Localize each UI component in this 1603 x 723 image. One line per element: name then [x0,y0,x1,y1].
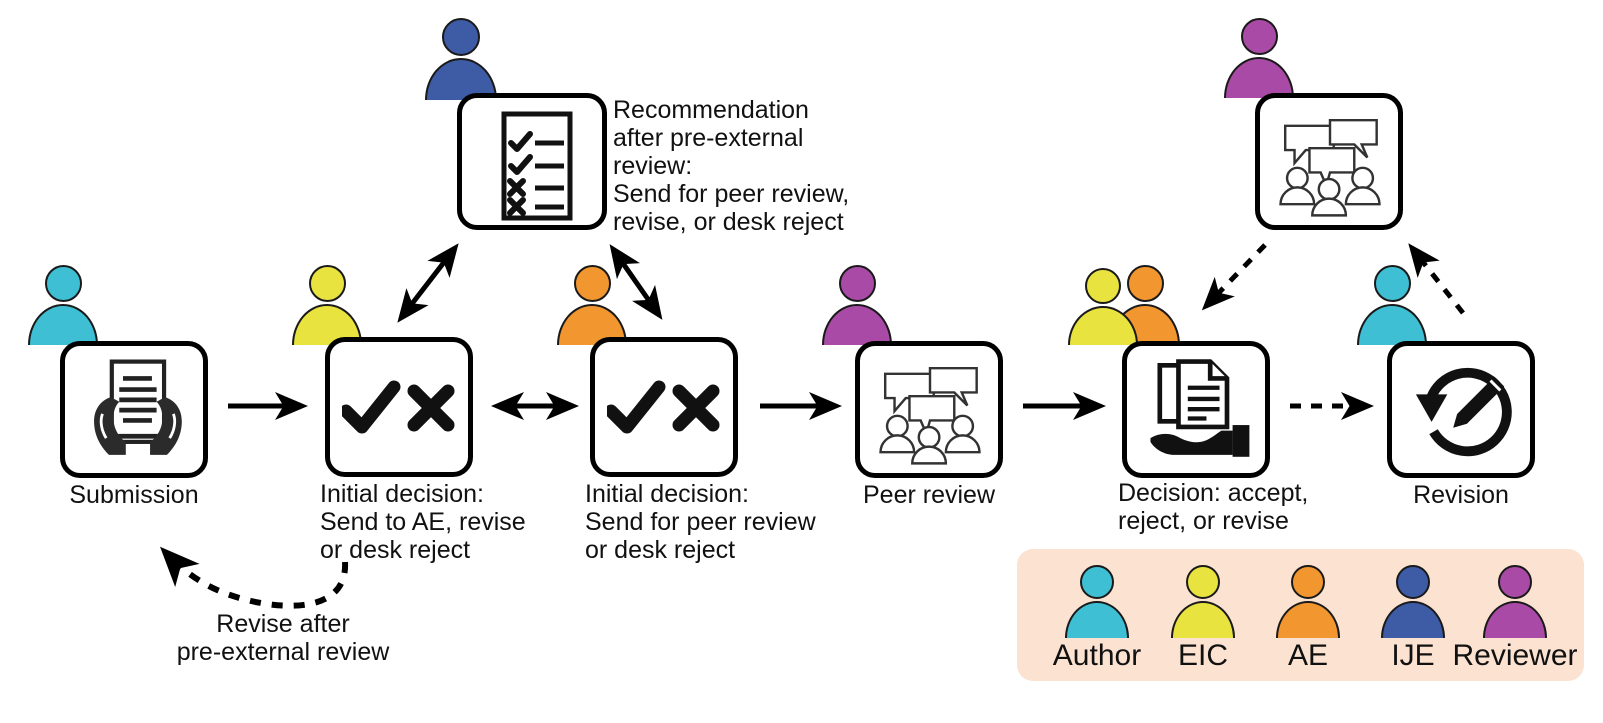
avatar-head-icon [1241,18,1278,55]
avatar-body-icon [28,304,98,345]
node-submission[interactable] [60,341,208,478]
checklist-icon [480,110,592,222]
avatar-head-icon [1085,268,1121,304]
node-initial-decision-eic[interactable] [325,337,473,477]
avatar-head-icon [309,265,346,302]
avatar-body-icon [1065,601,1129,638]
avatar-ae-initial-decision [557,265,627,345]
avatar-ae-legend [1276,565,1340,638]
legend-item-reviewer[interactable]: Reviewer [1450,565,1580,675]
revise-pencil-cycle-icon [1410,359,1518,467]
avatar-body-icon [1381,601,1445,638]
check-and-cross-icon [342,377,458,441]
node-initial-decision-ae[interactable] [590,337,738,477]
avatar-author-revision [1357,265,1427,345]
avatar-head-icon [1374,265,1411,302]
node-peer-review[interactable] [855,341,1003,478]
document-in-hand-icon [1143,356,1255,468]
revise-loop-label: Revise after pre-external review [133,610,433,666]
check-and-cross-icon [607,377,723,441]
callout-reviewer-discussion-box[interactable] [1255,93,1403,230]
edge-initial-eic-to-recommendation [401,248,455,318]
avatar-ije-legend [1381,565,1445,638]
avatar-eic-decision [1068,268,1138,345]
avatar-body-icon [1276,601,1340,638]
callout-recommendation-text: Recommendation after pre-external review… [613,96,913,236]
avatar-body-icon [822,304,892,345]
avatar-body-icon [1224,57,1294,98]
avatar-head-icon [1291,565,1325,599]
node-initial-decision-eic-label: Initial decision: Send to AE, revise or … [320,480,570,564]
avatar-eic-legend [1171,565,1235,638]
edge-reviewer-discussion-to-decision [1206,245,1265,306]
node-revision[interactable] [1387,341,1535,478]
discussion-group-icon [874,357,986,469]
avatar-head-icon [1396,565,1430,599]
avatar-head-icon [45,265,82,302]
avatar-head-icon [1186,565,1220,599]
node-submission-label: Submission [14,481,254,509]
avatar-eic-initial-decision [292,265,362,345]
avatar-head-icon [1498,565,1532,599]
diagram-canvas: Recommendation after pre-external review… [0,0,1603,723]
avatar-body-icon [1483,601,1547,638]
node-revision-label: Revision [1341,481,1581,509]
avatar-reviewer-peer-review [822,265,892,345]
avatar-head-icon [839,265,876,302]
node-peer-review-label: Peer review [809,481,1049,509]
avatar-reviewer-legend [1483,565,1547,638]
avatar-head-icon [574,265,611,302]
legend-panel: Author EIC AE IJE [1017,549,1584,681]
avatar-head-icon [442,18,480,56]
avatar-author-legend [1065,565,1129,638]
avatar-body-icon [1068,306,1138,345]
discussion-group-icon [1274,109,1386,221]
avatar-head-icon [1080,565,1114,599]
hands-holding-document-icon [81,356,193,468]
avatar-body-icon [1357,304,1427,345]
legend-label-reviewer: Reviewer [1450,639,1580,673]
avatar-ije-recommendation [425,18,497,100]
node-decision-label: Decision: accept, reject, or revise [1118,479,1368,535]
avatar-body-icon [1171,601,1235,638]
node-decision[interactable] [1122,341,1270,478]
callout-recommendation-box[interactable] [457,93,607,230]
avatar-author-submission [28,265,98,345]
edge-initial-eic-to-submission-revise [165,552,345,606]
avatar-reviewer-discussion [1224,18,1294,98]
node-initial-decision-ae-label: Initial decision: Send for peer review o… [585,480,845,564]
